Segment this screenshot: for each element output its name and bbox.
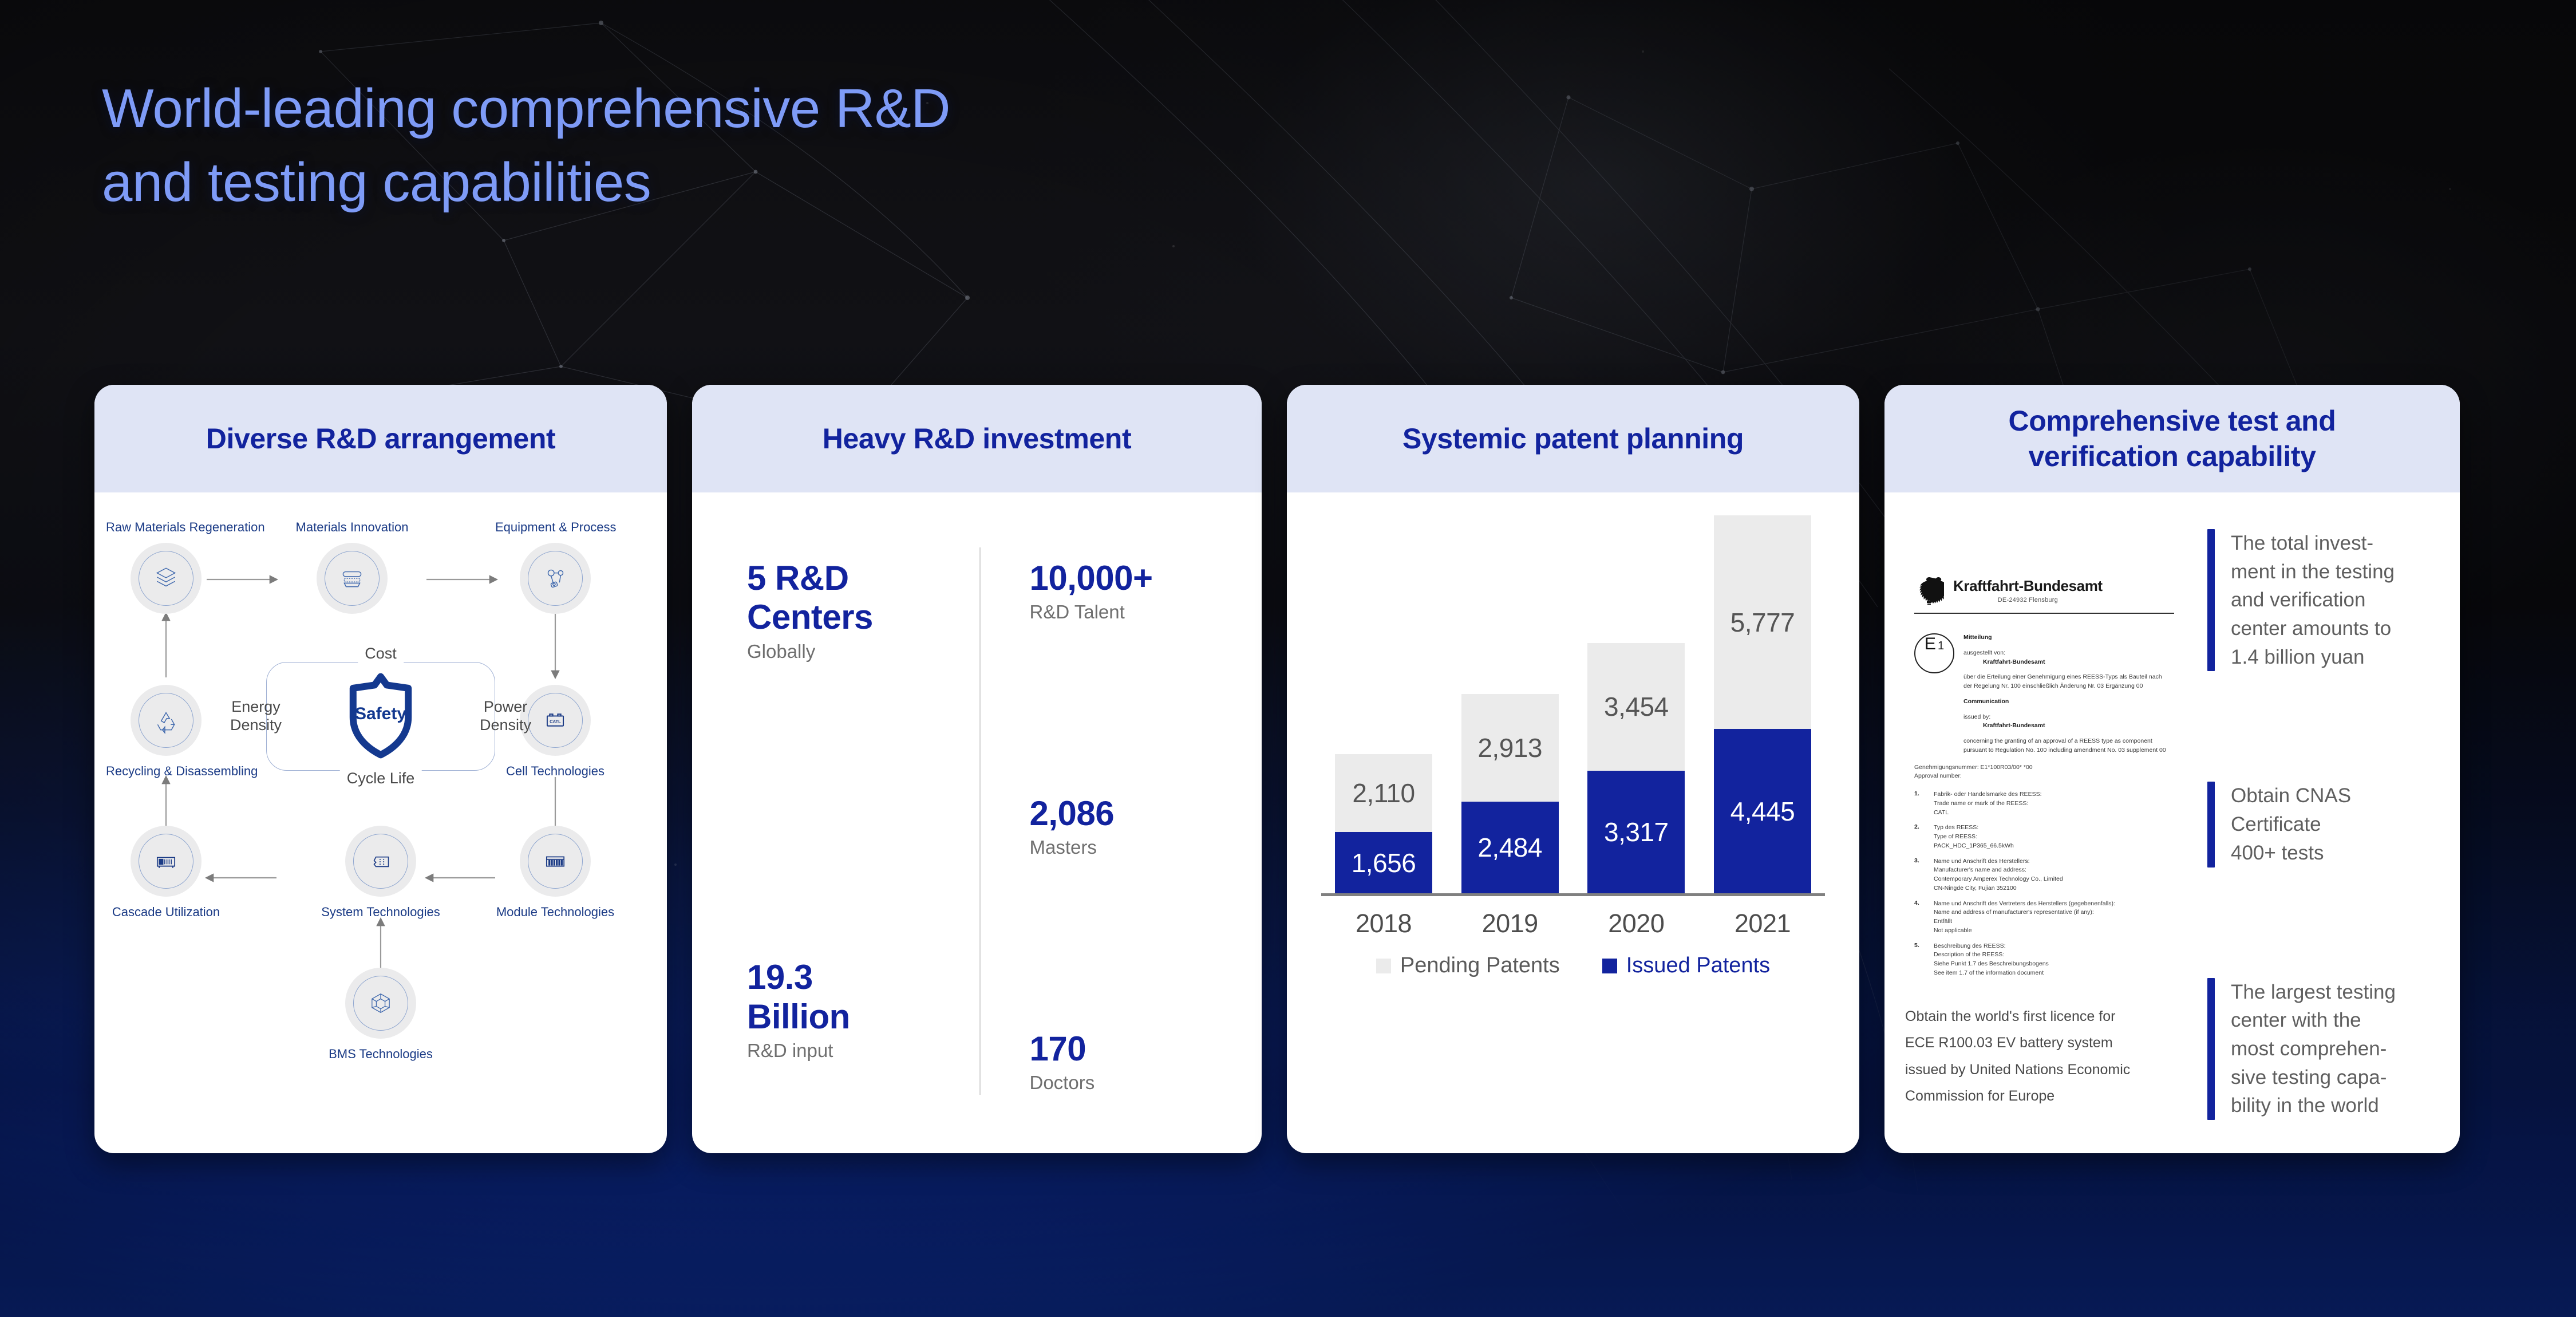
certificate-item: 5.Beschreibung des REESS: Description of… — [1914, 942, 2178, 978]
chart-bar-2020[interactable]: 3,4543,317 — [1587, 643, 1685, 893]
bar-value-pending: 2,110 — [1352, 778, 1415, 809]
legend-item-pending-patents[interactable]: Pending Patents — [1376, 953, 1560, 978]
card-title: Systemic patent planning — [1402, 421, 1744, 456]
bullet-total-investment: The total invest- ment in the testing an… — [2207, 529, 2435, 671]
node-label: BMS Technologies — [321, 1047, 441, 1062]
chart-bar-2021[interactable]: 5,7774,445 — [1714, 515, 1811, 893]
bar-value-issued: 2,484 — [1477, 832, 1542, 863]
bar-value-issued: 3,317 — [1604, 817, 1669, 847]
stat-masters: 2,086 Masters — [1030, 794, 1262, 858]
node-label: Equipment & Process — [495, 520, 615, 535]
card-comprehensive-test-verification: Comprehensive test and verification capa… — [1884, 385, 2460, 1153]
chart-x-label-2018: 2018 — [1335, 909, 1432, 939]
german-eagle-icon — [1914, 575, 1944, 607]
certificate-item: 4.Name und Anschrift des Vertreters des … — [1914, 900, 2178, 936]
diagram-node-materials-innovation[interactable]: Materials Innovation — [292, 520, 412, 614]
certificate-item: 2.Typ des REESS: Type of REESS: PACK_HDC… — [1914, 823, 2178, 850]
certificate-divider — [1914, 613, 2174, 614]
stat-caption: R&D Talent — [1030, 601, 1262, 623]
diagram-node-system-technologies[interactable]: System Technologies — [321, 826, 441, 920]
card-systemic-patent-planning: Systemic patent planning 2,1101,6562,913… — [1287, 385, 1859, 1153]
legend-swatch-pending — [1376, 959, 1391, 973]
node-label: Cascade Utilization — [106, 905, 226, 920]
bullet-accent-bar — [2207, 978, 2215, 1120]
chart-x-tick-labels: 2018201920202021 — [1319, 896, 1827, 939]
bullet-cnas-certificate: Obtain CNAS Certificate 400+ tests — [2207, 782, 2435, 867]
cert-line-en-body: concerning the granting of an approval o… — [1963, 737, 2178, 755]
certificate-item-index: 3. — [1914, 857, 1927, 893]
stat-rd-input: 19.3 Billion R&D input — [747, 958, 979, 1062]
bar-value-issued: 4,445 — [1730, 796, 1795, 827]
legend-label-issued: Issued Patents — [1626, 953, 1770, 978]
cards-row: Diverse R&D arrangement — [94, 385, 2480, 1153]
center-label-cost: Cost — [358, 645, 404, 663]
page-title: World-leading comprehensive R&D and test… — [102, 72, 950, 219]
cert-line-ausgestellt: ausgestellt von: — [1963, 649, 2178, 658]
bar-segment-pending: 2,913 — [1461, 694, 1559, 802]
bar-value-issued: 1,656 — [1352, 847, 1416, 878]
certificate-organization: Kraftfahrt-Bundesamt — [1953, 577, 2103, 595]
certificate-caption: Obtain the world's first licence for ECE… — [1905, 1003, 2180, 1110]
node-label: System Technologies — [321, 905, 441, 920]
bar-segment-pending: 2,110 — [1335, 754, 1432, 832]
slide-root: World-leading comprehensive R&D and test… — [0, 0, 2576, 1317]
battery-module-icon — [520, 826, 591, 897]
legend-item-issued-patents[interactable]: Issued Patents — [1602, 953, 1770, 978]
card-title: Comprehensive test and verification capa… — [2009, 403, 2336, 474]
chart-plot-area: 2,1101,6562,9132,4843,4543,3175,7774,445 — [1319, 515, 1827, 893]
card-body: Kraftfahrt-Bundesamt DE-24932 Flensburg … — [1884, 492, 2460, 1153]
diagram-node-raw-materials-regeneration[interactable]: Raw Materials Regeneration — [106, 520, 226, 614]
certificate-item-index: 4. — [1914, 900, 1927, 936]
stat-caption: R&D input — [747, 1040, 979, 1062]
svg-text:CATL: CATL — [550, 719, 561, 724]
cube-wireframe-icon — [345, 968, 416, 1039]
stat-number: 19.3 Billion — [747, 958, 979, 1036]
shield-label: Safety — [355, 704, 406, 724]
chart-bar-2019[interactable]: 2,9132,484 — [1461, 694, 1559, 893]
stat-caption: Masters — [1030, 837, 1262, 858]
investment-stats: 5 R&D Centers Globally 19.3 Billion R&D … — [692, 492, 1262, 1153]
card-body: 2,1101,6562,9132,4843,4543,3175,7774,445… — [1287, 492, 1859, 1153]
card-header: Comprehensive test and verification capa… — [1884, 385, 2460, 492]
stat-number: 170 — [1030, 1030, 1262, 1068]
certificate-item-text: Fabrik- oder Handelsmarke des REESS: Tra… — [1934, 790, 2042, 817]
bullet-text: The largest testing center with the most… — [2231, 978, 2396, 1120]
cert-line-org-en: Kraftfahrt-Bundesamt — [1963, 721, 2178, 731]
certificate-item: 3.Name und Anschrift des Herstellers: Ma… — [1914, 857, 2178, 893]
bullet-text: Obtain CNAS Certificate 400+ tests — [2231, 782, 2351, 867]
cert-line-communication: Communication — [1963, 697, 2178, 707]
bar-value-pending: 5,777 — [1730, 607, 1795, 638]
bar-segment-pending: 5,777 — [1714, 515, 1811, 729]
stats-column-left: 5 R&D Centers Globally 19.3 Billion R&D … — [692, 542, 979, 1119]
certificate-item-index: 2. — [1914, 823, 1927, 850]
cert-approval-number-de: Genehmigungsnummer: E1*100R03/00* *00 — [1914, 763, 2178, 772]
node-label: Raw Materials Regeneration — [106, 520, 226, 535]
certificate-item-index: 1. — [1914, 790, 1927, 817]
testing-bullets: The total invest- ment in the testing an… — [2195, 523, 2435, 1130]
chart-legend: Pending Patents Issued Patents — [1319, 953, 1827, 978]
node-label: Module Technologies — [495, 905, 615, 920]
bar-segment-issued: 1,656 — [1335, 832, 1432, 893]
stat-number: 2,086 — [1030, 794, 1262, 833]
battery-pack-icon — [345, 826, 416, 897]
robot-arm-icon — [520, 543, 591, 614]
node-label: Cell Technologies — [495, 764, 615, 779]
bar-segment-issued: 3,317 — [1587, 771, 1685, 893]
stat-rd-talent: 10,000+ R&D Talent — [1030, 559, 1262, 623]
node-label: Recycling & Disassembling — [106, 764, 226, 779]
cert-line-issued: issued by: — [1963, 713, 2178, 722]
stat-number: 10,000+ — [1030, 559, 1262, 598]
diagram-node-module-technologies[interactable]: Module Technologies — [495, 826, 615, 920]
certificate-item-index: 5. — [1914, 942, 1927, 978]
stat-rd-centers: 5 R&D Centers Globally — [747, 559, 979, 663]
center-label-energy-density: Energy Density — [223, 698, 289, 735]
card-header: Heavy R&D investment — [692, 385, 1262, 492]
bar-value-pending: 2,913 — [1477, 732, 1542, 763]
stat-caption: Doctors — [1030, 1072, 1262, 1094]
chart-bar-2018[interactable]: 2,1101,656 — [1335, 754, 1432, 893]
stat-caption: Globally — [747, 641, 979, 663]
center-label-power-density: Power Density — [473, 698, 538, 735]
kba-certificate-document[interactable]: Kraftfahrt-Bundesamt DE-24932 Flensburg … — [1905, 523, 2180, 978]
bullet-accent-bar — [2207, 782, 2215, 867]
card-title: Heavy R&D investment — [823, 421, 1131, 456]
certificate-address: DE-24932 Flensburg — [1953, 597, 2103, 604]
diagram-node-equipment-process[interactable]: Equipment & Process — [495, 520, 615, 614]
bullet-text: The total invest- ment in the testing an… — [2231, 529, 2395, 671]
cert-line-org-de: Kraftfahrt-Bundesamt — [1963, 658, 2178, 667]
card-body: 5 R&D Centers Globally 19.3 Billion R&D … — [692, 492, 1262, 1153]
card-header: Systemic patent planning — [1287, 385, 1859, 492]
stats-column-right: 10,000+ R&D Talent 2,086 Masters 170 Doc… — [981, 542, 1262, 1119]
chart-x-label-2020: 2020 — [1587, 909, 1685, 939]
bar-segment-pending: 3,454 — [1587, 643, 1685, 771]
bar-value-pending: 3,454 — [1604, 691, 1669, 722]
node-label: Materials Innovation — [292, 520, 412, 535]
card-diverse-rd-arrangement: Diverse R&D arrangement — [94, 385, 667, 1153]
certificate-items-list: 1.Fabrik- oder Handelsmarke des REESS: T… — [1914, 790, 2178, 978]
card-header: Diverse R&D arrangement — [94, 385, 667, 492]
card-body: Raw Materials Regeneration Materials Inn… — [94, 492, 667, 1153]
certificate-item-text: Beschreibung des REESS: Description of t… — [1934, 942, 2049, 978]
recycling-icon — [131, 685, 202, 756]
mark-letter: E — [1925, 634, 1936, 654]
legend-swatch-issued — [1602, 959, 1617, 973]
cert-line-mitteilung: Mitteilung — [1963, 633, 2178, 642]
patents-stacked-bar-chart: 2,1101,6562,9132,4843,4543,3175,7774,445… — [1287, 492, 1859, 1153]
chart-x-label-2021: 2021 — [1714, 909, 1811, 939]
card-heavy-rd-investment: Heavy R&D investment 5 R&D Centers Globa… — [692, 385, 1262, 1153]
certificate-item-text: Name und Anschrift des Vertreters des He… — [1934, 900, 2115, 936]
bullet-largest-testing-center: The largest testing center with the most… — [2207, 978, 2435, 1120]
certificate-item: 1.Fabrik- oder Handelsmarke des REESS: T… — [1914, 790, 2178, 817]
bullet-accent-bar — [2207, 529, 2215, 671]
certificate-item-text: Typ des REESS: Type of REESS: PACK_HDC_1… — [1934, 823, 2014, 850]
mark-number: 1 — [1938, 640, 1944, 653]
center-label-cycle-life: Cycle Life — [340, 770, 422, 788]
cert-line-de-body: über die Erteilung einer Genehmigung ein… — [1963, 673, 2178, 691]
rd-cycle-diagram: Raw Materials Regeneration Materials Inn… — [94, 492, 667, 1153]
stacked-sheets-icon — [131, 543, 202, 614]
stat-number: 5 R&D Centers — [747, 559, 979, 637]
card-title: Diverse R&D arrangement — [206, 421, 555, 456]
bar-segment-issued: 2,484 — [1461, 802, 1559, 893]
diagram-node-cascade-utilization[interactable]: Cascade Utilization — [106, 826, 226, 920]
stat-doctors: 170 Doctors — [1030, 1030, 1262, 1094]
certificate-column: Kraftfahrt-Bundesamt DE-24932 Flensburg … — [1905, 523, 2180, 1130]
cert-approval-number-en: Approval number: — [1914, 772, 2178, 781]
safety-shield-icon: Safety — [342, 673, 420, 759]
diagram-node-bms-technologies[interactable]: BMS Technologies — [321, 968, 441, 1062]
bar-segment-issued: 4,445 — [1714, 729, 1811, 893]
battery-rack-icon — [131, 826, 202, 897]
layered-material-icon — [317, 543, 388, 614]
diagram-node-recycling-disassembling[interactable]: Recycling & Disassembling — [106, 685, 226, 779]
certificate-item-text: Name und Anschrift des Herstellers: Manu… — [1934, 857, 2063, 893]
legend-label-pending: Pending Patents — [1400, 953, 1560, 978]
e1-approval-mark-icon: E 1 — [1914, 633, 1954, 673]
chart-x-label-2019: 2019 — [1461, 909, 1559, 939]
